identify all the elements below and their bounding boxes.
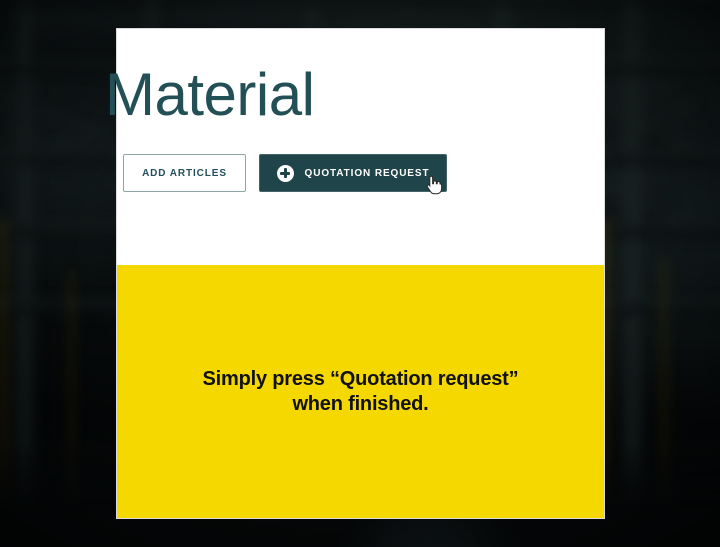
quotation-request-label: QUOTATION REQUEST [305,168,430,179]
instruction-line-1: Simply press “Quotation request” [203,368,519,390]
screen: Material ADD ARTICLES QUOTATION REQUEST … [0,0,720,547]
page-title: Material [105,65,314,125]
instruction-banner-text: Simply press “Quotation request” when fi… [203,367,519,417]
add-articles-button[interactable]: ADD ARTICLES [123,154,246,192]
panel-header-area: Material ADD ARTICLES QUOTATION REQUEST [117,29,604,265]
quotation-request-button[interactable]: QUOTATION REQUEST [259,154,447,192]
plus-circle-icon [277,165,294,182]
instruction-banner: Simply press “Quotation request” when fi… [117,265,604,518]
action-button-row: ADD ARTICLES QUOTATION REQUEST [123,154,447,192]
instruction-line-2: when finished. [292,393,428,415]
content-panel: Material ADD ARTICLES QUOTATION REQUEST … [117,29,604,518]
